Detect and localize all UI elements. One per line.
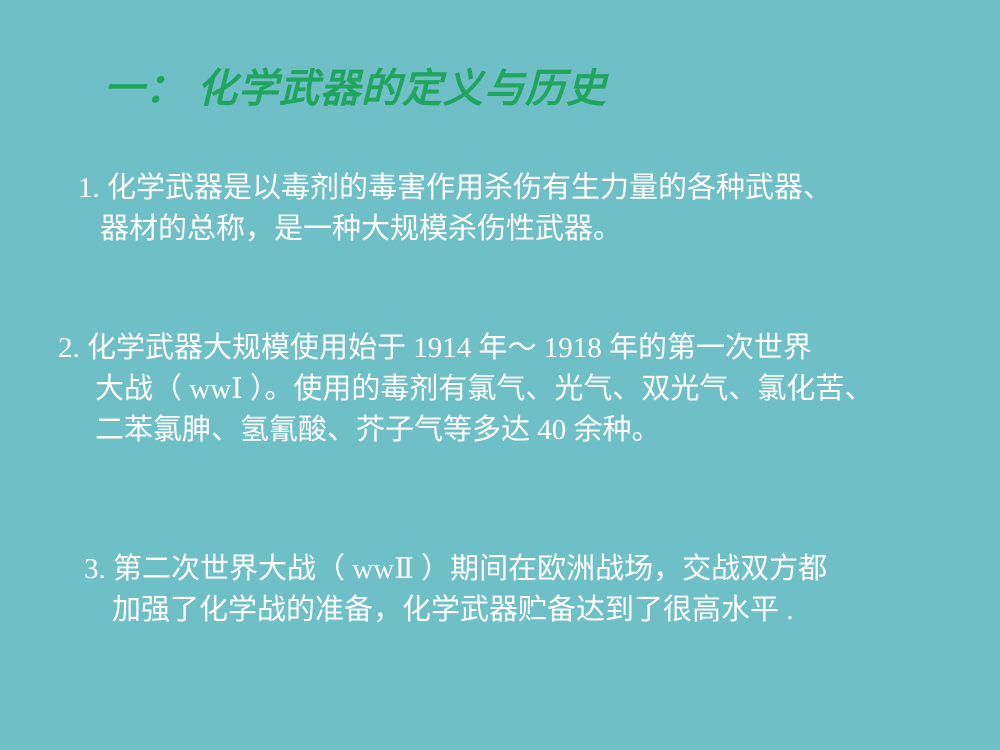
bullet-3-line-2: 加强了化学战的准备，化学武器贮备达到了很高水平 .	[84, 590, 827, 631]
bullet-2-line-1: 2. 化学武器大规模使用始于 1914 年～ 1918 年的第一次世界	[58, 328, 873, 369]
bullet-2-line-3: 二苯氯胂、氢氰酸、芥子气等多达 40 余种。	[58, 410, 873, 451]
presentation-slide: 一： 化学武器的定义与历史 1. 化学武器是以毒剂的毒害作用杀伤有生力量的各种武…	[0, 0, 1000, 750]
bullet-2-line-2: 大战（ wwⅠ ）。使用的毒剂有氯气、光气、双光气、氯化苦、	[58, 369, 873, 410]
bullet-item-3: 3. 第二次世界大战（ wwⅡ ）期间在欧洲战场，交战双方都 加强了化学战的准备…	[84, 549, 827, 631]
bullet-item-1: 1. 化学武器是以毒剂的毒害作用杀伤有生力量的各种武器、 器材的总称，是一种大规…	[78, 168, 832, 250]
bullet-1-line-1: 1. 化学武器是以毒剂的毒害作用杀伤有生力量的各种武器、	[78, 168, 832, 209]
slide-title: 一： 化学武器的定义与历史	[104, 63, 607, 115]
bullet-1-line-2: 器材的总称，是一种大规模杀伤性武器。	[78, 209, 832, 250]
bullet-item-2: 2. 化学武器大规模使用始于 1914 年～ 1918 年的第一次世界 大战（ …	[58, 328, 873, 451]
bullet-3-line-1: 3. 第二次世界大战（ wwⅡ ）期间在欧洲战场，交战双方都	[84, 549, 827, 590]
